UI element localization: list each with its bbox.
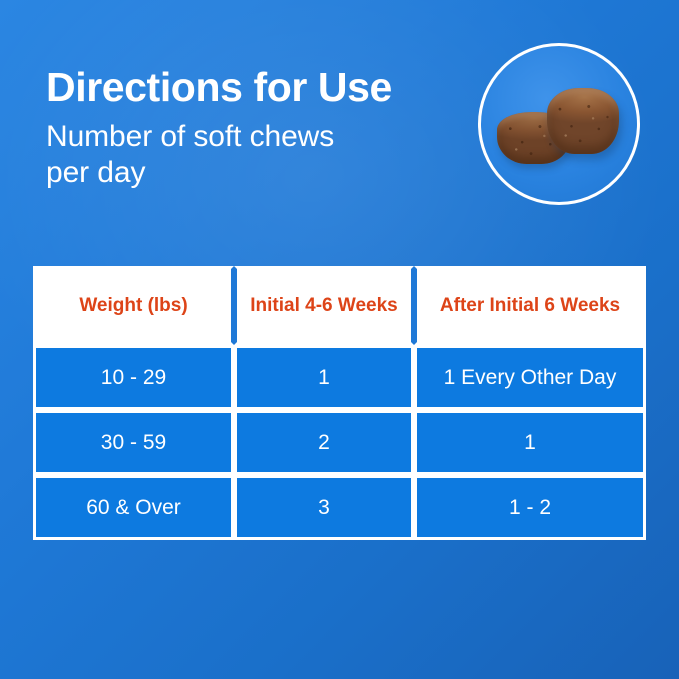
soft-chews-photo — [478, 43, 640, 205]
dosage-table: Weight (lbs) Initial 4-6 Weeks After Ini… — [33, 266, 646, 540]
column-header-initial-weeks: Initial 4-6 Weeks — [234, 266, 414, 345]
cell-after-dose: 1 - 2 — [414, 475, 646, 540]
table-row: 30 - 59 2 1 — [33, 410, 646, 475]
cell-weight: 30 - 59 — [33, 410, 234, 475]
column-header-weight: Weight (lbs) — [33, 266, 234, 345]
page-title: Directions for Use — [46, 66, 466, 109]
chew-texture-specks — [547, 88, 619, 154]
cell-after-dose: 1 Every Other Day — [414, 345, 646, 410]
table-row: 60 & Over 3 1 - 2 — [33, 475, 646, 540]
soft-chew-front-icon — [547, 88, 619, 154]
dosage-table-head: Weight (lbs) Initial 4-6 Weeks After Ini… — [33, 266, 646, 345]
page-subtitle: Number of soft chews per day — [46, 119, 376, 192]
dosage-table-body: 10 - 29 1 1 Every Other Day 30 - 59 2 1 … — [33, 345, 646, 540]
cell-initial-dose: 1 — [234, 345, 414, 410]
table-header-row: Weight (lbs) Initial 4-6 Weeks After Ini… — [33, 266, 646, 345]
cell-weight: 60 & Over — [33, 475, 234, 540]
heading-block: Directions for Use Number of soft chews … — [46, 66, 466, 192]
cell-initial-dose: 2 — [234, 410, 414, 475]
table-row: 10 - 29 1 1 Every Other Day — [33, 345, 646, 410]
cell-after-dose: 1 — [414, 410, 646, 475]
cell-weight: 10 - 29 — [33, 345, 234, 410]
cell-initial-dose: 3 — [234, 475, 414, 540]
directions-for-use-panel: Directions for Use Number of soft chews … — [0, 0, 679, 679]
column-header-after-initial-weeks: After Initial 6 Weeks — [414, 266, 646, 345]
